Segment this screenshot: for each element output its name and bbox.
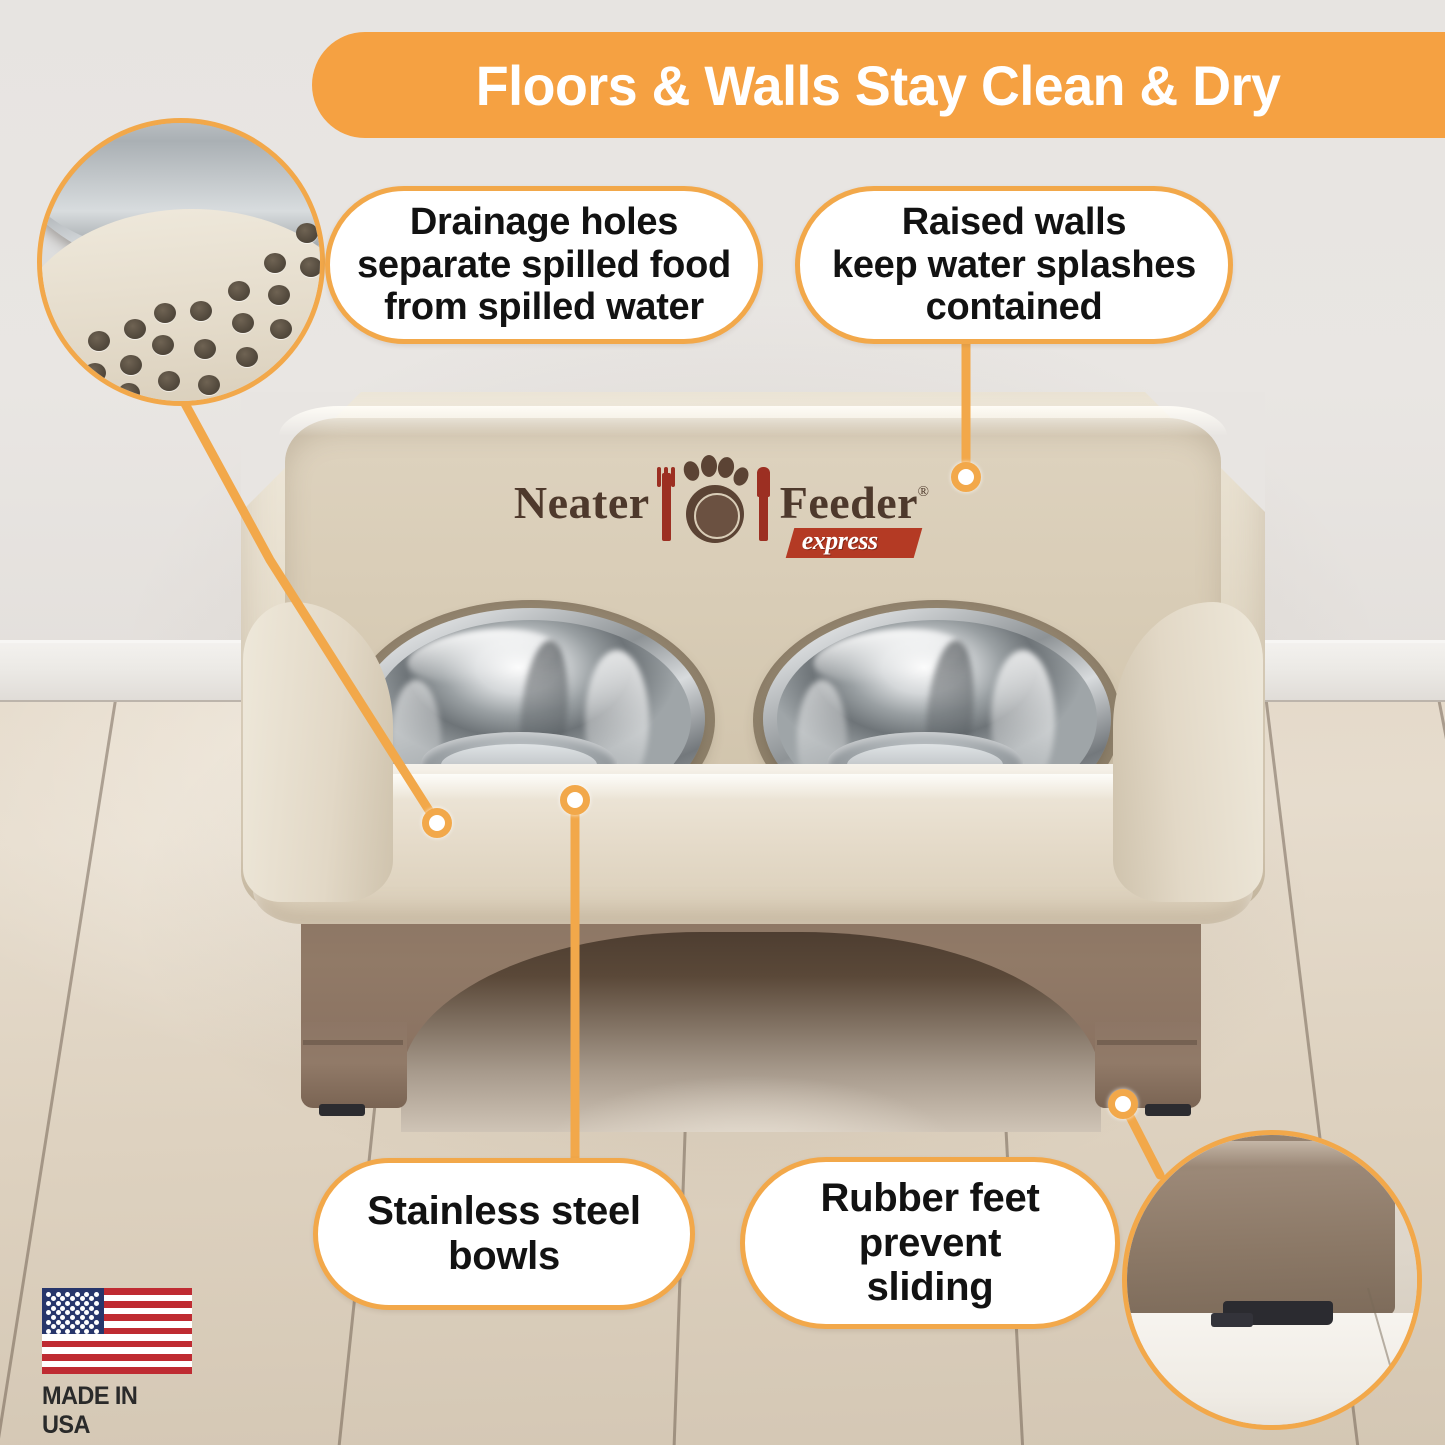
callout-dot-raised-walls xyxy=(951,462,981,492)
flag-star xyxy=(46,1320,51,1325)
flag-star xyxy=(56,1329,61,1334)
flag-stripe xyxy=(42,1367,192,1374)
flag-star xyxy=(65,1320,70,1325)
callout-stainless-bowls-text: Stainless steel bowls xyxy=(367,1189,640,1279)
logo-word-feeder-group: Feeder ® express xyxy=(780,480,918,526)
flag-star xyxy=(89,1306,94,1311)
flag-star xyxy=(89,1324,94,1329)
paw-bowl-fork-knife-icon xyxy=(656,455,774,551)
header-title: Floors & Walls Stay Clean & Dry xyxy=(476,53,1281,118)
product-infographic: Neater Feeder ® express xyxy=(0,0,1445,1445)
flag-star xyxy=(70,1315,75,1320)
paw-toe xyxy=(681,459,701,483)
feeder-front-lip-shine xyxy=(277,774,1229,800)
flag-star xyxy=(75,1320,80,1325)
callout-dot-rubber-feet xyxy=(1108,1089,1138,1119)
flag-star xyxy=(70,1324,75,1329)
flag-star xyxy=(56,1310,61,1315)
flag-star xyxy=(94,1292,99,1297)
flag-star xyxy=(65,1310,70,1315)
flag-star xyxy=(84,1292,89,1297)
feeder-rim-highlight xyxy=(279,406,1227,436)
flag-canton xyxy=(42,1288,104,1334)
inset-floor-surface xyxy=(1122,1313,1422,1430)
fork-tines xyxy=(656,467,677,487)
flag-star xyxy=(84,1329,89,1334)
inset-leg-highlight xyxy=(1122,1141,1367,1167)
flag-star xyxy=(60,1315,65,1320)
rubber-foot-right xyxy=(1145,1104,1191,1116)
flag-star xyxy=(80,1315,85,1320)
paw-pad-plate xyxy=(686,485,744,543)
callout-rubber-feet[interactable]: Rubber feet prevent sliding xyxy=(740,1157,1120,1329)
callout-raised-walls[interactable]: Raised walls keep water splashes contain… xyxy=(795,186,1233,344)
callout-raised-walls-text: Raised walls keep water splashes contain… xyxy=(832,201,1196,329)
flag-star xyxy=(56,1301,61,1306)
paw-toe xyxy=(701,455,717,477)
flag-star xyxy=(75,1301,80,1306)
pet-feeder-product: Neater Feeder ® express xyxy=(233,392,1273,1122)
flag-star xyxy=(94,1320,99,1325)
rubber-foot-closeup-inset xyxy=(1122,1130,1422,1430)
callout-rubber-feet-text: Rubber feet prevent sliding xyxy=(821,1176,1040,1310)
inset-tray-surface xyxy=(37,209,325,406)
flag-star xyxy=(51,1315,56,1320)
flag-star xyxy=(94,1310,99,1315)
callout-dot-drainage xyxy=(422,808,452,838)
flag-star xyxy=(46,1301,51,1306)
logo-word-express: express xyxy=(802,526,878,556)
flag-star xyxy=(89,1296,94,1301)
flag-star xyxy=(84,1301,89,1306)
feeder-leg-ridge-left xyxy=(303,1040,403,1045)
usa-flag-icon xyxy=(42,1288,192,1374)
rubber-foot-left xyxy=(319,1104,365,1116)
made-in-usa-label: MADE IN USA xyxy=(42,1382,183,1440)
flag-stripe xyxy=(42,1341,192,1348)
flag-star xyxy=(51,1324,56,1329)
inset-rubber-foot-pad-edge xyxy=(1211,1313,1253,1327)
header-banner: Floors & Walls Stay Clean & Dry xyxy=(312,32,1445,138)
feeder-leg-ridge-right xyxy=(1097,1040,1197,1045)
flag-star xyxy=(65,1301,70,1306)
flag-star xyxy=(60,1324,65,1329)
flag-star xyxy=(89,1315,94,1320)
flag-star xyxy=(65,1292,70,1297)
callout-stainless-bowls[interactable]: Stainless steel bowls xyxy=(313,1158,695,1310)
flag-star xyxy=(51,1306,56,1311)
flag-star xyxy=(84,1310,89,1315)
flag-stripe xyxy=(42,1354,192,1361)
flag-star xyxy=(46,1310,51,1315)
flag-star xyxy=(70,1306,75,1311)
made-in-usa-badge: MADE IN USA xyxy=(42,1288,192,1406)
feeder-side-wing-right xyxy=(1113,602,1263,902)
drainage-closeup-inset xyxy=(37,118,325,406)
callout-drainage-holes[interactable]: Drainage holes separate spilled food fro… xyxy=(325,186,763,344)
flag-star xyxy=(80,1296,85,1301)
flag-star xyxy=(70,1296,75,1301)
flag-star xyxy=(75,1329,80,1334)
flag-star xyxy=(94,1329,99,1334)
logo-word-feeder: Feeder xyxy=(780,477,918,528)
flag-star xyxy=(65,1329,70,1334)
flag-star xyxy=(46,1329,51,1334)
knife-blade xyxy=(757,467,770,497)
logo-word-neater: Neater xyxy=(514,480,650,526)
feeder-leg-left xyxy=(301,1022,407,1108)
flag-star xyxy=(46,1292,51,1297)
flag-star xyxy=(75,1310,80,1315)
product-logo: Neater Feeder ® express xyxy=(501,454,931,552)
flag-star xyxy=(60,1296,65,1301)
registered-trademark-icon: ® xyxy=(918,484,929,501)
flag-star xyxy=(94,1301,99,1306)
flag-star xyxy=(51,1296,56,1301)
callout-dot-stainless-bowls xyxy=(560,785,590,815)
flag-star xyxy=(75,1292,80,1297)
callout-drainage-text: Drainage holes separate spilled food fro… xyxy=(357,201,731,329)
